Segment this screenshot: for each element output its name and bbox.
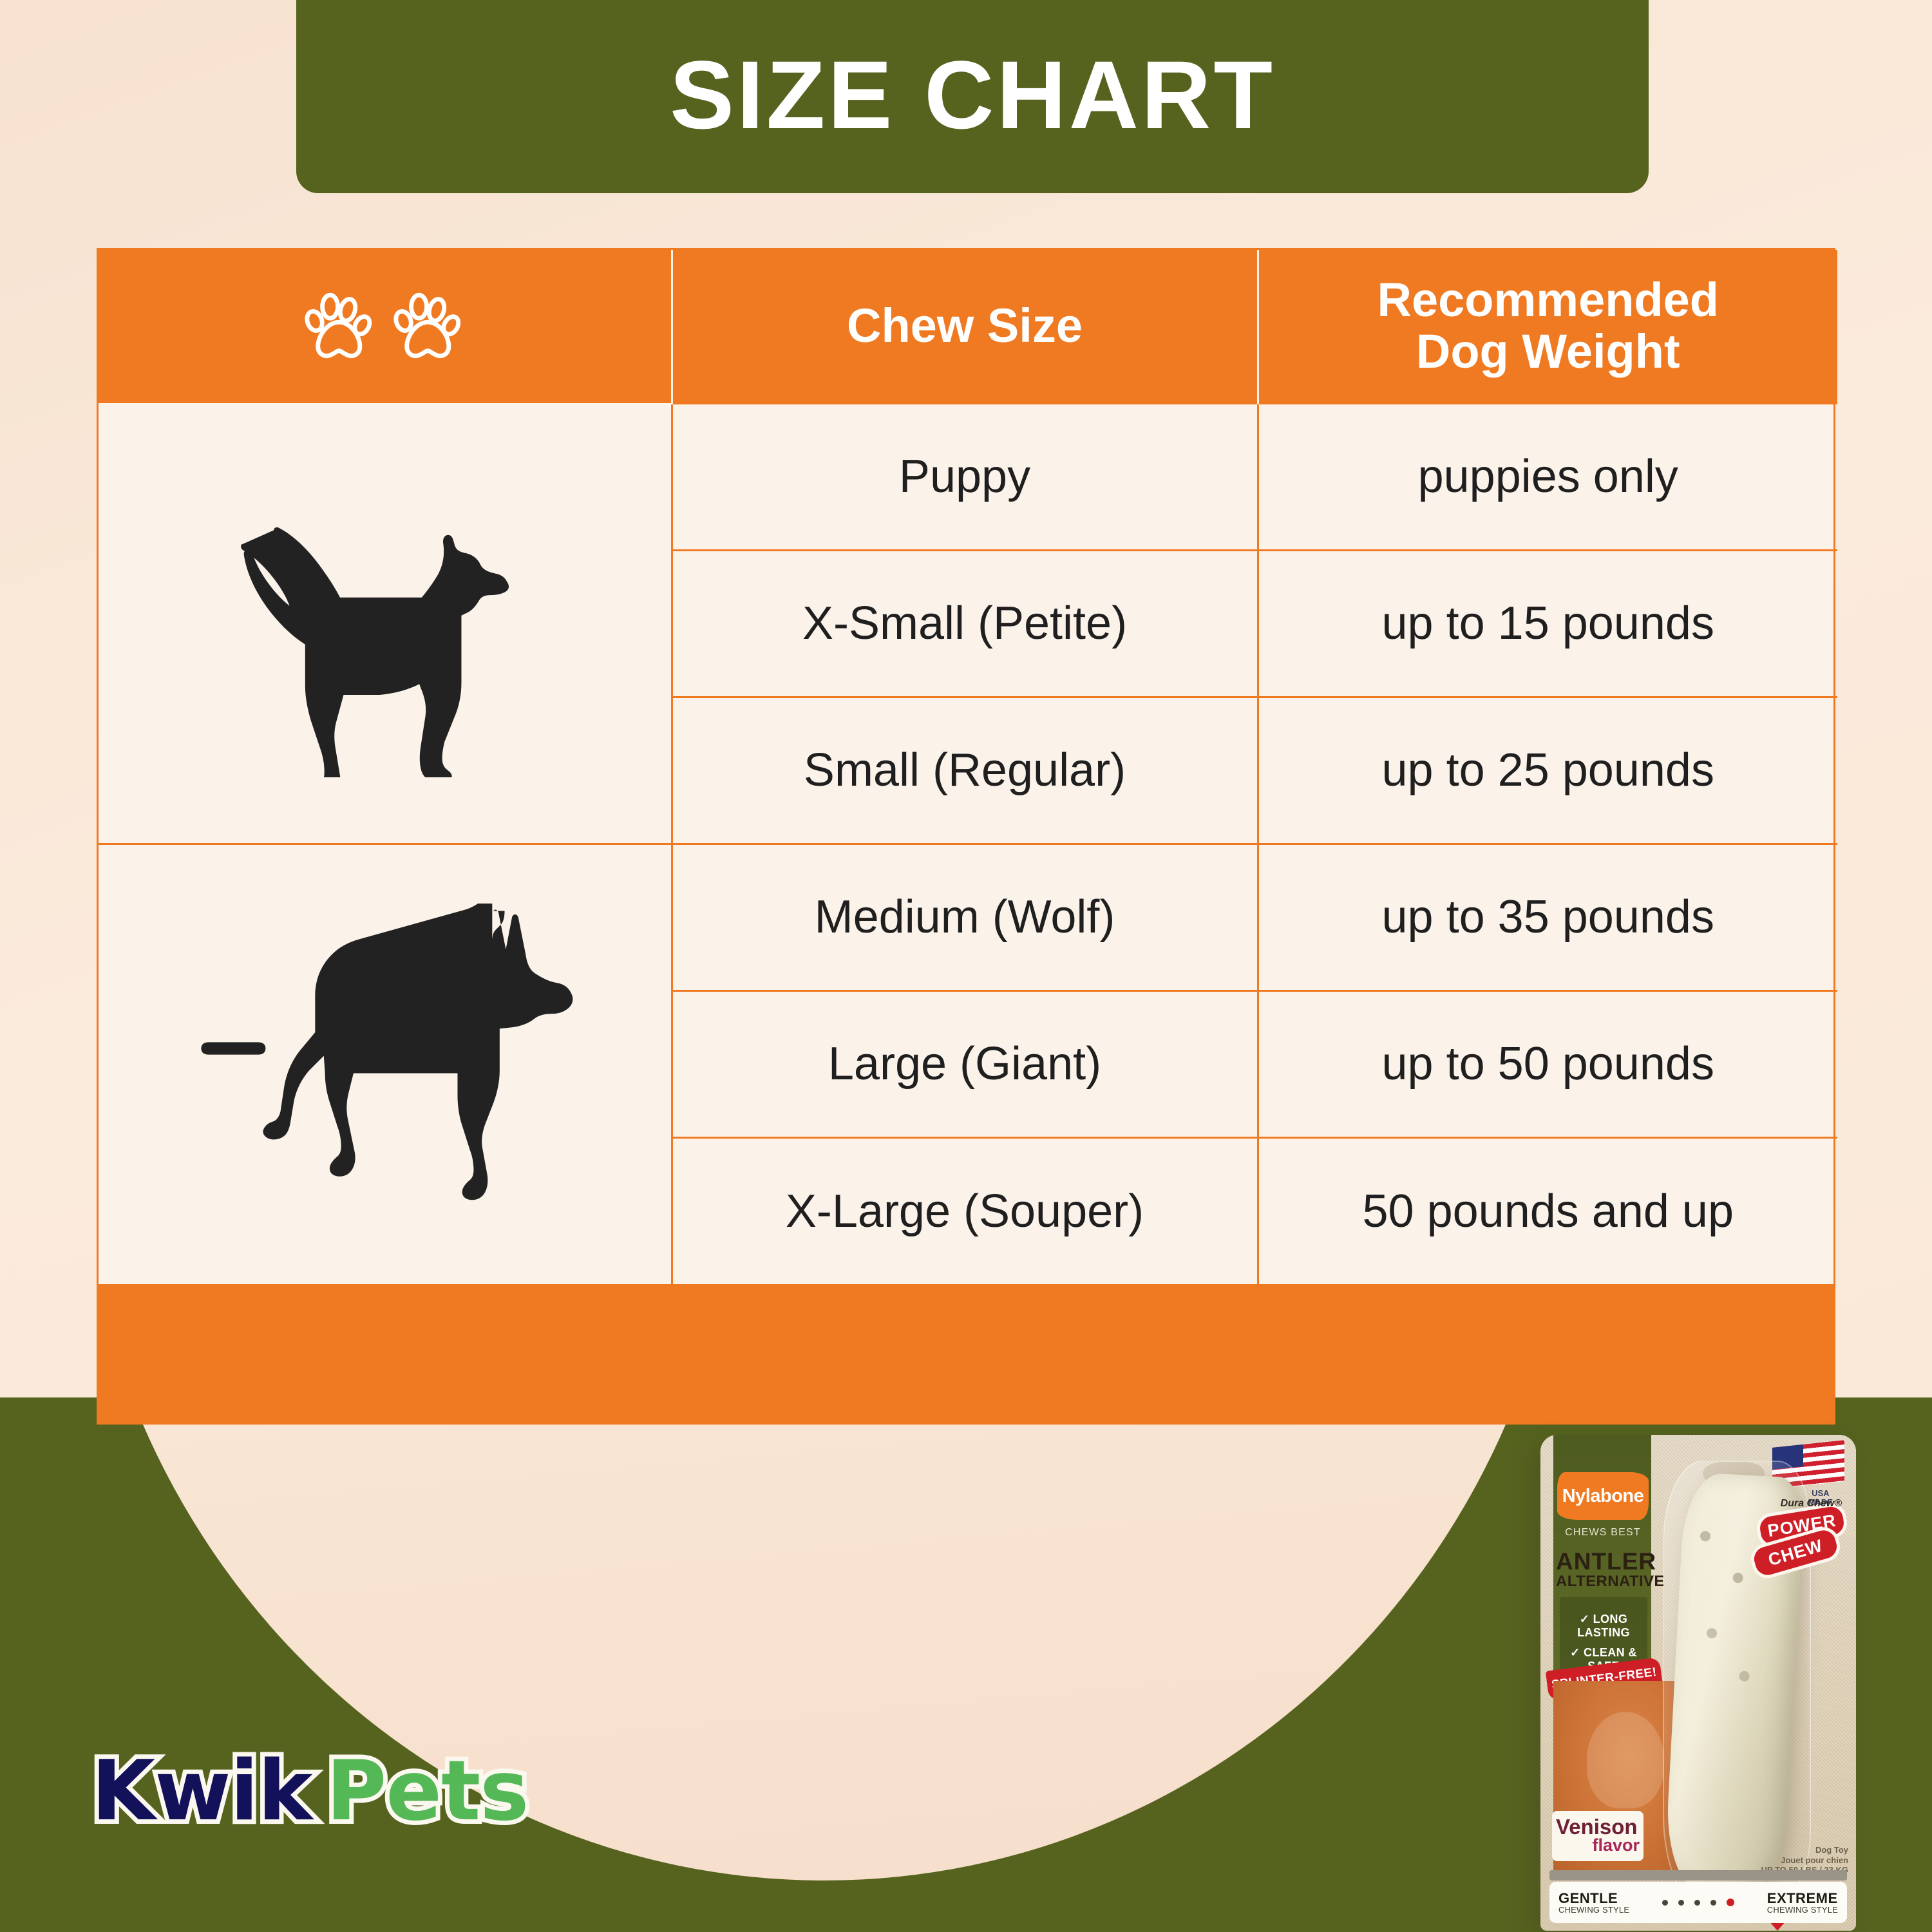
paw-print-icon-1 bbox=[305, 288, 375, 365]
header-banner: SIZE CHART bbox=[296, 0, 1649, 193]
package-grey-strip bbox=[1549, 1870, 1847, 1880]
page-title: SIZE CHART bbox=[670, 24, 1275, 143]
size-chart-page: SIZE CHART KP www.kwikpets.com bbox=[0, 0, 1932, 1932]
labrador-dog-silhouette-icon bbox=[99, 403, 672, 844]
product-name: ANTLER ALTERNATIVE bbox=[1556, 1549, 1650, 1589]
nylabone-brand-splat: Nylabone bbox=[1557, 1472, 1649, 1520]
scale-dot-active bbox=[1727, 1899, 1734, 1906]
cell-chew-size: Puppy bbox=[672, 403, 1258, 550]
cell-dog-weight: up to 25 pounds bbox=[1258, 697, 1837, 844]
gentle-sublabel: CHEWING STYLE bbox=[1558, 1906, 1629, 1915]
feature-item: ✓ LONG LASTING bbox=[1564, 1613, 1643, 1640]
cell-dog-weight: puppies only bbox=[1258, 403, 1837, 550]
cell-dog-weight: up to 50 pounds bbox=[1258, 990, 1837, 1137]
extreme-label: EXTREME bbox=[1767, 1891, 1838, 1906]
cell-chew-size: X-Small (Petite) bbox=[672, 550, 1258, 697]
power-chew-badge: POWER CHEW bbox=[1750, 1504, 1847, 1582]
doberman-dog-silhouette bbox=[185, 904, 584, 1226]
flavor-line1: Venison bbox=[1556, 1817, 1640, 1837]
paw-prints-icon bbox=[99, 288, 671, 365]
usa-made-line1: USA bbox=[1808, 1489, 1833, 1498]
column-header-dog-weight: Recommended Dog Weight bbox=[1258, 250, 1837, 403]
flavor-line2: flavor bbox=[1556, 1837, 1640, 1854]
dog-toy-line1: Dog Toy bbox=[1761, 1845, 1848, 1855]
doberman-dog-silhouette-icon bbox=[99, 844, 672, 1284]
gentle-label: GENTLE bbox=[1558, 1891, 1629, 1906]
product-package-image: USA MADE Nylabone CHEWS BEST ANTLER ALTE… bbox=[1540, 1435, 1856, 1931]
column-header-dog-icons bbox=[99, 250, 672, 403]
labrador-dog-silhouette bbox=[204, 468, 565, 777]
cell-dog-weight: up to 15 pounds bbox=[1258, 550, 1837, 697]
cell-chew-size: Medium (Wolf) bbox=[672, 844, 1258, 990]
size-chart-table-wrapper: Chew Size Recommended Dog Weight Puppy bbox=[97, 248, 1835, 1425]
kwik-pets-logo: KwikPets bbox=[91, 1750, 528, 1833]
table-row: Medium (Wolf) up to 35 pounds bbox=[99, 844, 1837, 990]
logo-word-pets: Pets bbox=[326, 1743, 528, 1839]
scale-dot bbox=[1710, 1900, 1716, 1906]
nylabone-brand-text: Nylabone bbox=[1562, 1486, 1644, 1507]
venison-flavor-badge: Venison flavor bbox=[1552, 1811, 1643, 1861]
table-row: Puppy puppies only bbox=[99, 403, 1837, 550]
chews-best-tagline: CHEWS BEST bbox=[1557, 1527, 1649, 1539]
dura-chew-label: Dura Chew® bbox=[1781, 1498, 1842, 1510]
table-footer-bar bbox=[99, 1284, 1833, 1423]
cell-dog-weight: up to 35 pounds bbox=[1258, 844, 1837, 990]
style-scale-dots bbox=[1662, 1899, 1734, 1906]
chew-text: CHEW bbox=[1766, 1535, 1825, 1570]
paw-print-icon-2 bbox=[393, 288, 464, 365]
logo-word-kwik: Kwik bbox=[91, 1743, 312, 1839]
scale-dot bbox=[1678, 1900, 1684, 1906]
cell-dog-weight: 50 pounds and up bbox=[1258, 1137, 1837, 1284]
dog-toy-line2: Jouet pour chien bbox=[1761, 1855, 1848, 1866]
scale-dot bbox=[1662, 1900, 1668, 1906]
extreme-sublabel: CHEWING STYLE bbox=[1767, 1906, 1838, 1915]
extreme-style-label: EXTREME CHEWING STYLE bbox=[1767, 1891, 1838, 1915]
column-header-dog-weight-line2: Dog Weight bbox=[1259, 326, 1838, 377]
product-name-line1: ANTLER bbox=[1556, 1549, 1650, 1574]
cell-chew-size: Large (Giant) bbox=[672, 990, 1258, 1137]
cell-chew-size: X-Large (Souper) bbox=[672, 1137, 1258, 1284]
product-name-line2: ALTERNATIVE bbox=[1556, 1574, 1650, 1589]
chewing-style-scale: GENTLE CHEWING STYLE EXTREME CHEWING STY… bbox=[1549, 1882, 1847, 1923]
scale-dot bbox=[1694, 1900, 1700, 1906]
cell-chew-size: Small (Regular) bbox=[672, 697, 1258, 844]
column-header-chew-size: Chew Size bbox=[672, 250, 1258, 403]
size-chart-table: Chew Size Recommended Dog Weight Puppy bbox=[99, 250, 1837, 1284]
table-header-row: Chew Size Recommended Dog Weight bbox=[99, 250, 1837, 403]
column-header-dog-weight-line1: Recommended bbox=[1259, 274, 1838, 326]
gentle-style-label: GENTLE CHEWING STYLE bbox=[1558, 1891, 1629, 1915]
